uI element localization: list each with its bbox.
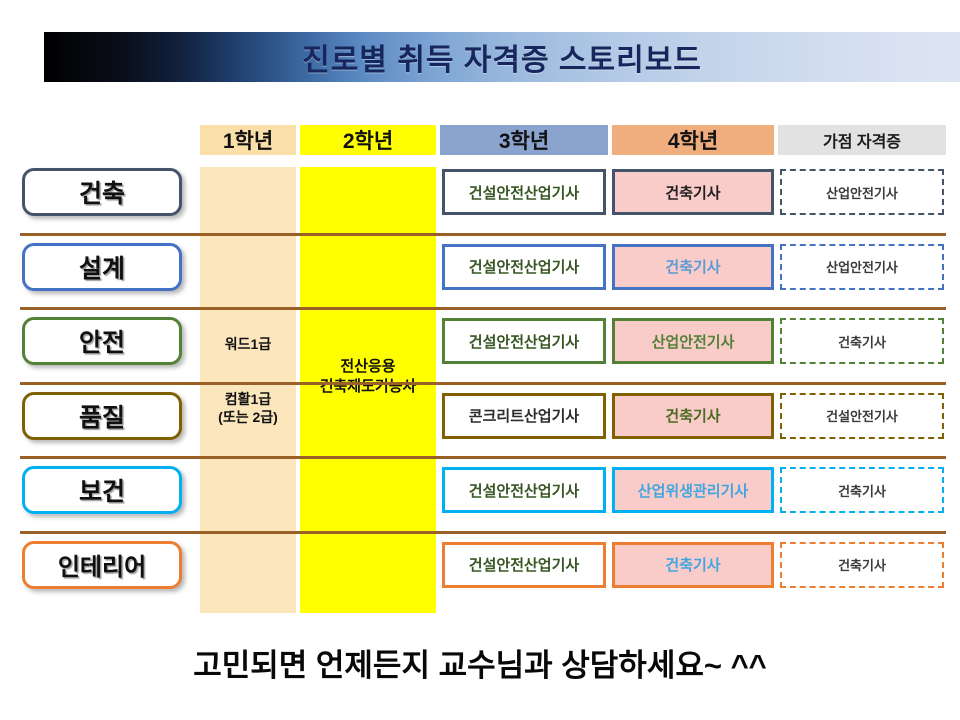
page-title: 진로별 취득 자격증 스토리보드 [302,35,702,79]
cell-year3-row5[interactable]: 건설안전산업기사 [442,542,606,588]
cell-bonus-row2[interactable]: 건축기사 [780,318,944,364]
cell-year3-text: 건설안전산업기사 [469,480,579,501]
cell-year3-text: 건설안전산업기사 [469,256,579,277]
column-header-bonus: 가점 자격증 [778,125,946,155]
row-separator [20,531,946,534]
row-label-text: 설계 [79,249,125,285]
row-label-text: 보건 [79,472,125,508]
year1-cert-computer: 컴활1급 (또는 2급) [200,391,296,426]
column-header-year2-label: 2학년 [343,125,393,155]
row-label-1[interactable]: 설계 [22,243,182,291]
column-header-year4: 4학년 [612,125,774,155]
row-label-text: 품질 [79,398,125,434]
cell-bonus-text: 건설안전기사 [826,406,898,425]
cell-year3-row3[interactable]: 콘크리트산업기사 [442,393,606,439]
cell-year3-row1[interactable]: 건설안전산업기사 [442,244,606,290]
cell-year4-row5[interactable]: 건축기사 [612,542,774,588]
cell-bonus-row1[interactable]: 산업안전기사 [780,244,944,290]
year2-cert: 전산응용 건축제도기능사 [300,357,436,398]
cell-year4-text: 건축기사 [665,256,720,277]
row-label-3[interactable]: 품질 [22,392,182,440]
cell-year4-text: 건축기사 [665,554,720,575]
column-header-year2: 2학년 [300,125,436,155]
row-label-0[interactable]: 건축 [22,168,182,216]
row-label-2[interactable]: 안전 [22,317,182,365]
row-separator [20,307,946,310]
year2-cert-line1: 전산응용 [300,357,436,377]
cell-bonus-text: 산업안전기사 [826,183,898,202]
cell-year3-row4[interactable]: 건설안전산업기사 [442,467,606,513]
year1-cert-computer-line1: 컴활1급 [200,391,296,409]
column-header-year1-label: 1학년 [223,125,273,155]
year2-cert-line2: 건축제도기능사 [300,377,436,397]
cell-year4-text: 건축기사 [665,182,720,203]
cell-year4-row3[interactable]: 건축기사 [612,393,774,439]
cell-year3-row0[interactable]: 건설안전산업기사 [442,169,606,215]
column-header-year3-label: 3학년 [499,125,549,155]
column-header-bonus-label: 가점 자격증 [823,128,901,152]
footer-note: 고민되면 언제든지 교수님과 상담하세요~ ^^ [0,640,960,685]
row-separator [20,233,946,236]
cell-bonus-row3[interactable]: 건설안전기사 [780,393,944,439]
cell-bonus-text: 건축기사 [838,332,886,351]
row-label-5[interactable]: 인테리어 [22,541,182,589]
title-banner: 진로별 취득 자격증 스토리보드 [44,32,960,82]
row-label-text: 안전 [79,323,125,359]
cell-year4-row4[interactable]: 산업위생관리기사 [612,467,774,513]
column-header-year3: 3학년 [440,125,608,155]
cell-year3-row2[interactable]: 건설안전산업기사 [442,318,606,364]
column-header-year1: 1학년 [200,125,296,155]
cell-year4-text: 건축기사 [665,405,720,426]
cell-bonus-text: 산업안전기사 [826,257,898,276]
cell-year4-row0[interactable]: 건축기사 [612,169,774,215]
cell-bonus-row0[interactable]: 산업안전기사 [780,169,944,215]
row-label-text: 건축 [79,174,125,210]
cell-year4-text: 산업위생관리기사 [638,480,748,501]
cell-bonus-text: 건축기사 [838,555,886,574]
cell-bonus-text: 건축기사 [838,481,886,500]
cell-year3-text: 건설안전산업기사 [469,554,579,575]
row-separator [20,382,946,385]
cell-bonus-row5[interactable]: 건축기사 [780,542,944,588]
year1-cert-computer-line2: (또는 2급) [200,409,296,427]
cell-bonus-row4[interactable]: 건축기사 [780,467,944,513]
row-label-4[interactable]: 보건 [22,466,182,514]
column-header-year4-label: 4학년 [668,125,718,155]
cell-year4-text: 산업안전기사 [652,331,735,352]
cell-year3-text: 건설안전산업기사 [469,182,579,203]
cell-year3-text: 콘크리트산업기사 [469,405,579,426]
cell-year4-row2[interactable]: 산업안전기사 [612,318,774,364]
cell-year4-row1[interactable]: 건축기사 [612,244,774,290]
row-separator [20,456,946,459]
year1-cert-word: 워드1급 [200,335,296,353]
row-label-text: 인테리어 [58,547,146,582]
cell-year3-text: 건설안전산업기사 [469,331,579,352]
